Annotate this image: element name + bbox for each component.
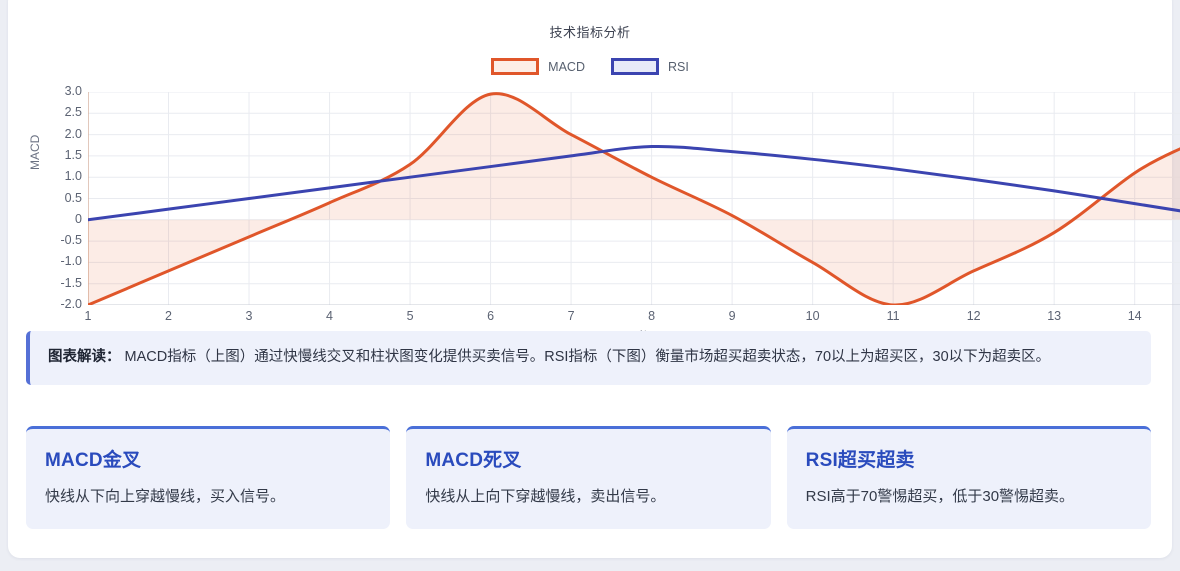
signal-card[interactable]: RSI超买超卖RSI高于70警惕超买，低于30警惕超卖。	[787, 426, 1151, 529]
x-tick-label: 8	[648, 309, 655, 323]
x-tick-label: 1	[85, 309, 92, 323]
chart-explanation-box: 图表解读： MACD指标（上图）通过快慢线交叉和柱状图变化提供买卖信号。RSI指…	[26, 331, 1151, 385]
signal-card-text: RSI高于70警惕超买，低于30警惕超卖。	[806, 486, 1132, 509]
signal-card-title: RSI超买超卖	[806, 445, 1132, 472]
chart-svg	[88, 92, 1180, 305]
x-tick-label: 11	[887, 309, 900, 323]
legend-label-macd: MACD	[548, 60, 585, 74]
x-tick-label: 7	[568, 309, 575, 323]
x-tick-label: 6	[487, 309, 494, 323]
y-tick-label: -2.0	[60, 297, 82, 311]
y-tick-label: -1.5	[60, 276, 82, 290]
x-tick-label: 9	[729, 309, 736, 323]
legend-item-rsi[interactable]: RSI	[611, 58, 689, 75]
y-tick-label: 3.0	[65, 84, 82, 98]
y-axis-label: MACD	[28, 135, 42, 170]
x-axis-ticks: 1234567891011121314	[88, 309, 1180, 329]
signal-card[interactable]: MACD死叉快线从上向下穿越慢线，卖出信号。	[406, 426, 770, 529]
x-tick-label: 10	[806, 309, 820, 323]
x-tick-label: 12	[967, 309, 981, 323]
y-tick-label: 0.5	[65, 191, 82, 205]
x-tick-label: 2	[165, 309, 172, 323]
y-axis-ticks: 3.02.52.01.51.00.50-0.5-1.0-1.5-2.0	[46, 92, 82, 305]
signal-card-title: MACD死叉	[425, 445, 751, 472]
signal-card-list: MACD金叉快线从下向上穿越慢线，买入信号。MACD死叉快线从上向下穿越慢线，卖…	[26, 426, 1151, 529]
x-tick-label: 13	[1047, 309, 1061, 323]
signal-card-title: MACD金叉	[45, 445, 371, 472]
chart-container: 技术指标分析 MACD RSI MACD 3.02.52.01.51.00.50…	[0, 10, 1180, 340]
y-tick-label: 2.0	[65, 127, 82, 141]
legend-item-macd[interactable]: MACD	[491, 58, 585, 75]
chart-legend: MACD RSI	[0, 58, 1180, 75]
chart-explanation-text: MACD指标（上图）通过快慢线交叉和柱状图变化提供买卖信号。RSI指标（下图）衡…	[121, 349, 1051, 365]
legend-swatch-macd-icon	[491, 58, 539, 75]
y-tick-label: -0.5	[60, 233, 82, 247]
page-root: 技术指标分析 MACD RSI MACD 3.02.52.01.51.00.50…	[0, 0, 1180, 571]
x-tick-label: 14	[1128, 309, 1142, 323]
y-tick-label: 1.5	[65, 148, 82, 162]
chart-explanation-title: 图表解读：	[48, 349, 121, 365]
signal-card-text: 快线从下向上穿越慢线，买入信号。	[45, 486, 371, 509]
y-tick-label: 0	[75, 212, 82, 226]
y-tick-label: 1.0	[65, 169, 82, 183]
chart-title: 技术指标分析	[0, 22, 1180, 41]
x-tick-label: 3	[246, 309, 253, 323]
plot-area	[88, 92, 1180, 305]
signal-card[interactable]: MACD金叉快线从下向上穿越慢线，买入信号。	[26, 426, 390, 529]
x-tick-label: 5	[407, 309, 414, 323]
y-tick-label: -1.0	[60, 254, 82, 268]
x-tick-label: 4	[326, 309, 333, 323]
signal-card-text: 快线从上向下穿越慢线，卖出信号。	[425, 486, 751, 509]
y-tick-label: 2.5	[65, 105, 82, 119]
legend-swatch-rsi-icon	[611, 58, 659, 75]
legend-label-rsi: RSI	[668, 60, 689, 74]
